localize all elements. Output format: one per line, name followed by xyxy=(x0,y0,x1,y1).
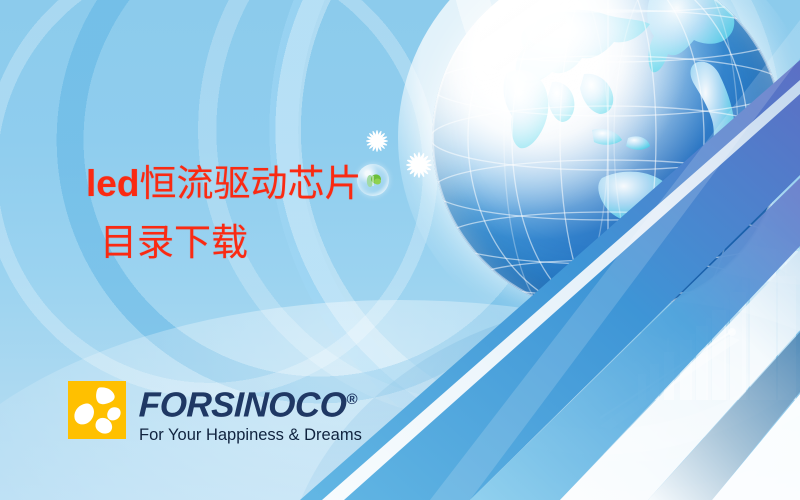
globe-graticule-and-continents xyxy=(432,0,784,314)
headline-line-2: 目录下载 xyxy=(100,219,466,266)
headline-line-1: led恒流驱动芯片 xyxy=(86,160,466,207)
company-logo[interactable]: FORSINOCO® For Your Happiness & Dreams xyxy=(68,381,362,445)
brand-tagline: For Your Happiness & Dreams xyxy=(139,425,362,445)
world-globe xyxy=(432,0,784,314)
sparkle-flower-icon xyxy=(364,128,390,154)
registered-trademark-icon: ® xyxy=(346,391,358,408)
logo-text-block: FORSINOCO® For Your Happiness & Dreams xyxy=(139,381,362,445)
bubble-with-green-sprout xyxy=(494,326,532,364)
four-petal-flower-mark-icon xyxy=(68,381,126,439)
banner-canvas: led恒流驱动芯片 目录下载 FORSINOCO® For Your Happi… xyxy=(0,0,800,500)
globe-sphere xyxy=(432,0,784,314)
bubble-with-green-sprout xyxy=(764,112,798,146)
brand-name-text: FORSINOCO xyxy=(138,386,347,425)
headline-line-1-cn: 恒流驱动芯片 xyxy=(139,162,361,205)
headline-line-1-en: led xyxy=(86,163,139,204)
headline: led恒流驱动芯片 目录下载 xyxy=(86,160,466,267)
brand-name: FORSINOCO® xyxy=(138,382,362,424)
